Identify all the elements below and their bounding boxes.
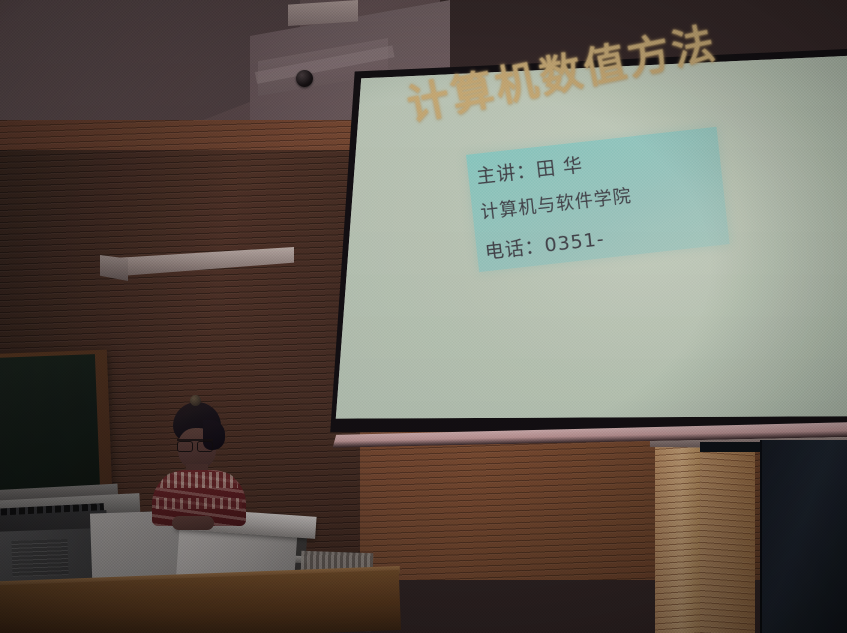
presenter-sweater-yoke [160,472,238,488]
classroom-door[interactable] [760,440,847,633]
presenter-hat-pompom [190,395,201,406]
projection-screen [316,49,847,446]
presenter-sweater-band [156,498,242,509]
cabinet-vent [11,539,68,577]
presenter-hands [172,516,214,530]
screen-surface [316,49,847,446]
glasses-icon [177,439,213,450]
wall-pilaster-face [700,443,755,633]
ceiling-camera-icon [296,70,313,87]
lecture-hall-scene: 计算机数值方法 主讲：田 华 计算机与软件学院 电话：0351- [0,0,847,633]
presenter [150,398,248,524]
